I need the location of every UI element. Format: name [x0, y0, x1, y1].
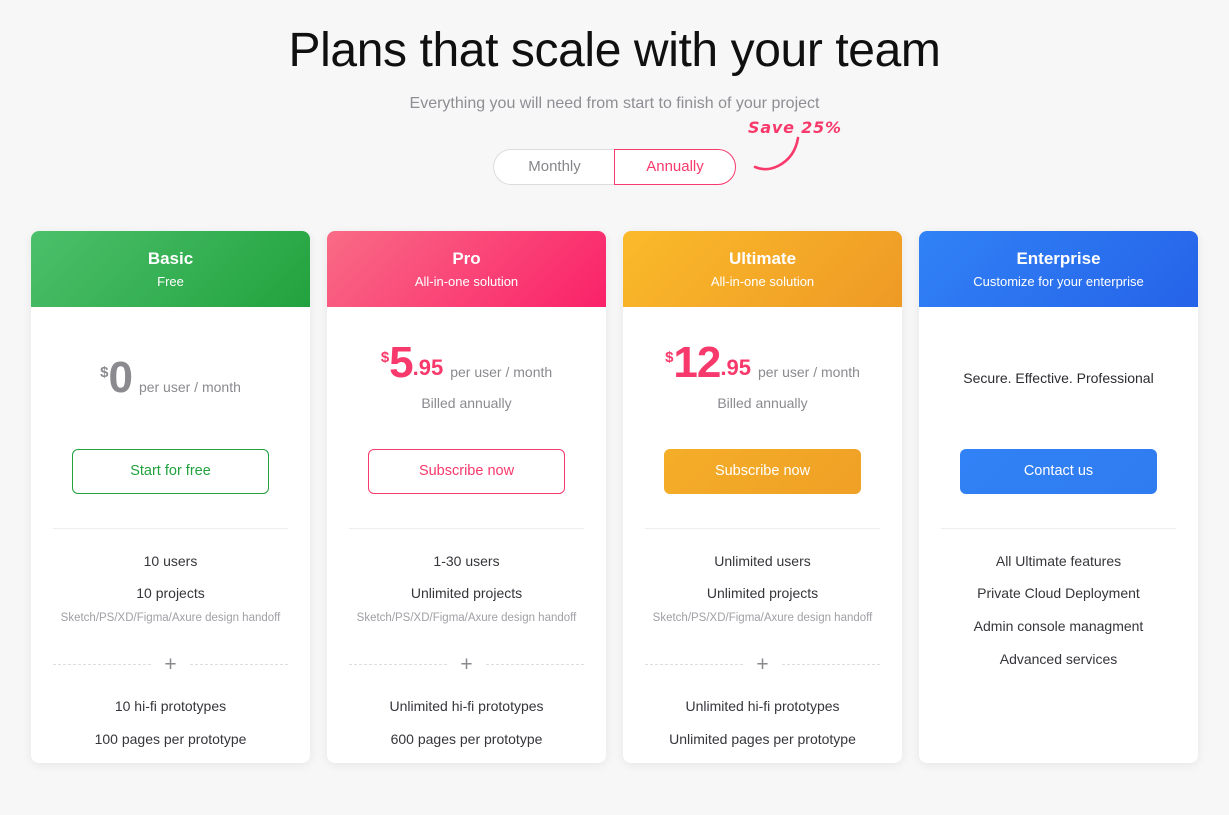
save-label: Save 25%	[748, 118, 868, 137]
card-header: BasicFree	[31, 231, 310, 307]
feature-item: 1-30 users	[433, 552, 499, 571]
feature-item: 10 projects	[136, 584, 204, 603]
page-header: Plans that scale with your team Everythi…	[0, 0, 1229, 113]
plus-icon: +	[743, 654, 781, 675]
price-cents: .95	[720, 357, 751, 379]
cta-button[interactable]: Contact us	[960, 449, 1157, 494]
plus-icon: +	[447, 654, 485, 675]
feature-note: Sketch/PS/XD/Figma/Axure design handoff	[61, 611, 281, 626]
card-body: $0per user / monthStart for free10 users…	[31, 307, 310, 764]
price-line: $0per user / month	[100, 359, 241, 397]
feature-item: Unlimited hi-fi prototypes	[389, 697, 543, 716]
pricing-card-enterprise: EnterpriseCustomize for your enterpriseS…	[919, 231, 1198, 764]
plan-tagline: Customize for your enterprise	[973, 274, 1144, 289]
feature-item: Unlimited hi-fi prototypes	[685, 697, 839, 716]
toggle-option-annually[interactable]: Annually	[614, 149, 736, 185]
toggle-option-monthly[interactable]: Monthly	[493, 149, 615, 185]
card-body: Secure. Effective. ProfessionalContact u…	[919, 307, 1198, 764]
feature-item: 10 hi-fi prototypes	[115, 697, 226, 716]
curved-arrow-icon	[750, 136, 806, 178]
price-amount: 12	[673, 344, 720, 382]
cta-zone: Start for free	[53, 449, 288, 528]
currency-symbol: $	[665, 350, 673, 365]
feature-item: Unlimited projects	[707, 584, 818, 603]
card-header: ProAll-in-one solution	[327, 231, 606, 307]
feature-item: 600 pages per prototype	[391, 730, 543, 749]
feature-item: Admin console managment	[974, 617, 1144, 636]
price-zone: $12.95per user / monthBilled annually	[645, 307, 880, 449]
feature-note: Sketch/PS/XD/Figma/Axure design handoff	[653, 611, 873, 626]
pricing-card-pro: ProAll-in-one solution$5.95per user / mo…	[327, 231, 606, 764]
plan-tagline: Free	[157, 274, 184, 289]
feature-list: All Ultimate featuresPrivate Cloud Deplo…	[941, 529, 1176, 684]
price-cents: .95	[413, 357, 444, 379]
cta-button[interactable]: Start for free	[72, 449, 269, 494]
billing-note: Billed annually	[421, 395, 511, 411]
feature-list-secondary: Unlimited hi-fi prototypes600 pages per …	[389, 697, 543, 763]
billing-toggle[interactable]: Monthly Annually	[493, 149, 736, 185]
plan-name: Enterprise	[1016, 249, 1100, 269]
plan-name: Basic	[148, 249, 193, 269]
cta-zone: Contact us	[941, 449, 1176, 528]
plan-name: Pro	[452, 249, 480, 269]
price-zone: Secure. Effective. Professional	[941, 307, 1176, 449]
dashed-line-left	[349, 664, 447, 665]
cta-button[interactable]: Subscribe now	[664, 449, 861, 494]
card-header: UltimateAll-in-one solution	[623, 231, 902, 307]
cta-zone: Subscribe now	[645, 449, 880, 528]
feature-list: 1-30 usersUnlimited projectsSketch/PS/XD…	[349, 529, 584, 764]
plus-divider: +	[349, 654, 584, 675]
price-amount: 5	[389, 344, 412, 382]
dashed-line-left	[53, 664, 151, 665]
price-line: $12.95per user / month	[665, 344, 860, 382]
page-subtitle: Everything you will need from start to f…	[0, 95, 1229, 113]
price-amount: 0	[108, 359, 131, 397]
feature-item: All Ultimate features	[996, 552, 1121, 571]
feature-item: Unlimited pages per prototype	[669, 730, 856, 749]
dashed-line-left	[645, 664, 743, 665]
plus-icon: +	[151, 654, 189, 675]
currency-symbol: $	[381, 350, 389, 365]
cta-button[interactable]: Subscribe now	[368, 449, 565, 494]
price-zone: $0per user / month	[53, 307, 288, 449]
price-period: per user / month	[450, 364, 552, 380]
plan-blurb: Secure. Effective. Professional	[963, 370, 1153, 386]
feature-list: 10 users10 projectsSketch/PS/XD/Figma/Ax…	[53, 529, 288, 764]
pricing-card-basic: BasicFree$0per user / monthStart for fre…	[31, 231, 310, 764]
plan-tagline: All-in-one solution	[711, 274, 814, 289]
pricing-card-ultimate: UltimateAll-in-one solution$12.95per use…	[623, 231, 902, 764]
page-title: Plans that scale with your team	[0, 22, 1229, 81]
price-period: per user / month	[758, 364, 860, 380]
save-annotation: Save 25%	[748, 118, 868, 137]
price-period: per user / month	[139, 379, 241, 395]
dashed-line-right	[486, 664, 584, 665]
feature-item: 10 users	[144, 552, 198, 571]
feature-list-secondary: 10 hi-fi prototypes100 pages per prototy…	[95, 697, 247, 763]
billing-note: Billed annually	[717, 395, 807, 411]
billing-toggle-row: Monthly Annually Save 25%	[0, 149, 1229, 185]
plus-divider: +	[645, 654, 880, 675]
dashed-line-right	[190, 664, 288, 665]
dashed-line-right	[782, 664, 880, 665]
cta-zone: Subscribe now	[349, 449, 584, 528]
feature-item: Private Cloud Deployment	[977, 584, 1140, 603]
feature-item: Unlimited projects	[411, 584, 522, 603]
feature-item: 100 pages per prototype	[95, 730, 247, 749]
card-header: EnterpriseCustomize for your enterprise	[919, 231, 1198, 307]
feature-note: Sketch/PS/XD/Figma/Axure design handoff	[357, 611, 577, 626]
currency-symbol: $	[100, 365, 108, 380]
plus-divider: +	[53, 654, 288, 675]
feature-list-secondary: Unlimited hi-fi prototypesUnlimited page…	[669, 697, 856, 763]
price-zone: $5.95per user / monthBilled annually	[349, 307, 584, 449]
price-line: $5.95per user / month	[381, 344, 552, 382]
plan-name: Ultimate	[729, 249, 796, 269]
plan-tagline: All-in-one solution	[415, 274, 518, 289]
feature-item: Advanced services	[1000, 650, 1118, 669]
pricing-cards: BasicFree$0per user / monthStart for fre…	[0, 231, 1229, 764]
card-body: $5.95per user / monthBilled annuallySubs…	[327, 307, 606, 764]
card-body: $12.95per user / monthBilled annuallySub…	[623, 307, 902, 764]
feature-list: Unlimited usersUnlimited projectsSketch/…	[645, 529, 880, 764]
feature-item: Unlimited users	[714, 552, 810, 571]
